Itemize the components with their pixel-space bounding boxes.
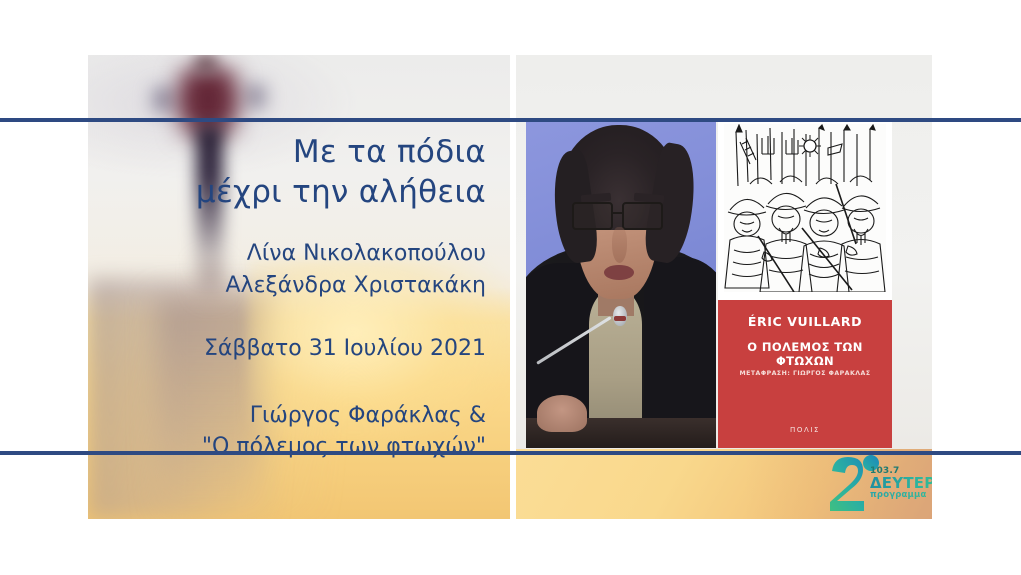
photo-mouth [604, 265, 634, 280]
bottom-divider-rule [0, 451, 1021, 455]
left-lens [572, 202, 613, 230]
right-lens [622, 202, 663, 230]
microphone-band [614, 316, 625, 321]
logo-two-glyph [830, 457, 864, 511]
logo-station-name: ΔΕΥΤΕΡΟ [870, 476, 932, 491]
author-photo [526, 118, 716, 448]
eyeglasses-icon [572, 202, 663, 230]
photo-hand [537, 395, 586, 431]
book-translator: ΜΕΤΑΦΡΑΣΗ: ΓΙΩΡΓΟΣ ΦΑΡΑΚΛΑΣ [718, 370, 892, 377]
runner-head [191, 55, 221, 78]
deftero-programma-logo: 103.7 ΔΕΥΤΕΡΟ πρόγραμμα [822, 451, 928, 513]
glasses-bridge [613, 212, 622, 215]
slide-canvas: Με τα πόδια μέχρι την αλήθεια Λίνα Νικολ… [0, 0, 1021, 575]
left-panel: Με τα πόδια μέχρι την αλήθεια Λίνα Νικολ… [88, 55, 510, 519]
woodcut-svg [724, 124, 886, 292]
right-panel: ÉRIC VUILLARD Ο ΠΟΛΕΜΟΣ ΤΩΝ ΦΤΩΧΩΝ ΜΕΤΑΦ… [516, 55, 932, 519]
book-cover: ÉRIC VUILLARD Ο ΠΟΛΕΜΟΣ ΤΩΝ ΦΤΩΧΩΝ ΜΕΤΑΦ… [718, 118, 892, 448]
book-publisher: ΠΟΛΙΣ [718, 426, 892, 434]
left-text-block: Με τα πόδια μέχρι την αλήθεια Λίνα Νικολ… [106, 133, 486, 463]
book-author: ÉRIC VUILLARD [718, 314, 892, 329]
top-divider-rule [0, 118, 1021, 122]
logo-subtitle: πρόγραμμα [870, 491, 932, 500]
woodcut-illustration [724, 124, 886, 292]
book-title: Ο ΠΟΛΕΜΟΣ ΤΩΝ ΦΤΩΧΩΝ [718, 340, 892, 368]
credits: Λίνα Νικολακοπούλου Αλεξάνδρα Χριστακάκη [106, 238, 486, 300]
broadcast-date: Σάββατο 31 Ιουλίου 2021 [106, 335, 486, 364]
headline: Με τα πόδια μέχρι την αλήθεια [106, 133, 486, 212]
photo-nose [612, 227, 627, 263]
logo-text-block: 103.7 ΔΕΥΤΕΡΟ πρόγραμμα [870, 467, 932, 500]
